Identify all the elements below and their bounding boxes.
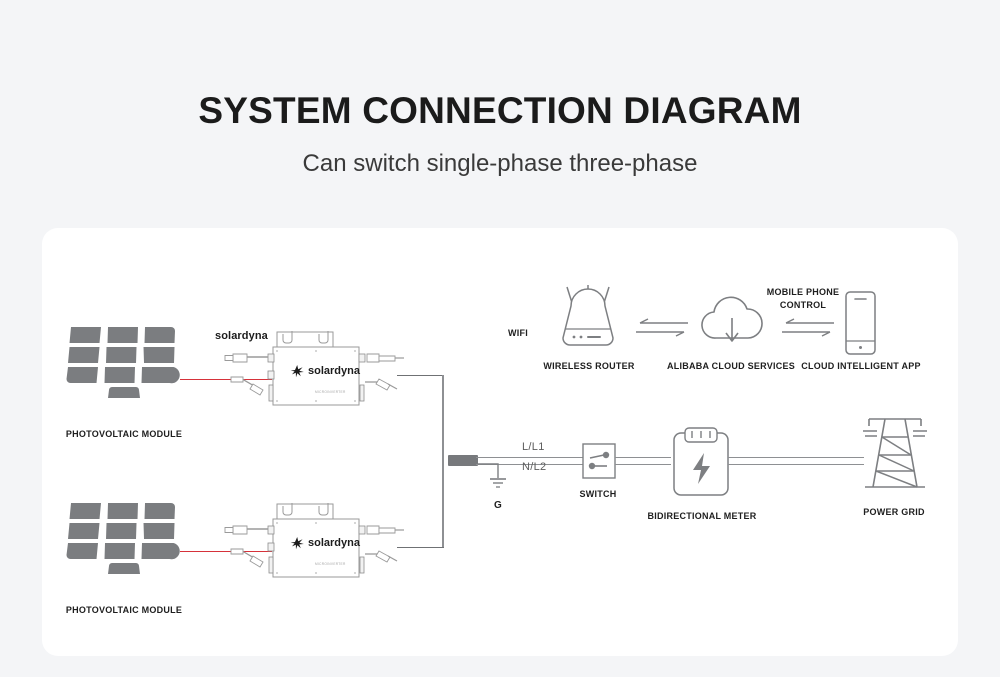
- pv-panel-top-icon: [68, 325, 180, 405]
- arrows-router-cloud: [634, 318, 690, 342]
- arrows-cloud-phone: [780, 318, 836, 342]
- smartphone-icon: [838, 291, 882, 357]
- wireless-router-icon: [547, 284, 629, 352]
- diagram-page: SYSTEM CONNECTION DIAGRAM Can switch sin…: [0, 0, 1000, 677]
- wireless-router-label: WIRELESS ROUTER: [543, 361, 634, 371]
- alibaba-cloud-node: [698, 288, 768, 350]
- meter-node: [668, 425, 734, 499]
- ac-wire-top-out: [397, 375, 444, 376]
- power-grid-label: POWER GRID: [863, 507, 925, 517]
- cloud-app-node: [838, 291, 882, 357]
- ground-symbol: [476, 460, 526, 494]
- pv-module-bottom-label: PHOTOVOLTAIC MODULE: [66, 605, 182, 615]
- mobile-phone-control-text: MOBILE PHONECONTROL: [767, 287, 840, 310]
- switch-icon: [582, 443, 616, 479]
- inverter-bottom-subtext: MICROINVERTER: [315, 562, 346, 566]
- bidirectional-arrow-icon: [634, 318, 690, 342]
- bidirectional-arrow-icon-2: [780, 318, 836, 342]
- cloud-icon: [698, 288, 768, 350]
- ac-wire-bottom-out: [397, 547, 444, 548]
- ground-icon: [476, 460, 526, 494]
- ac-bus-riser: [442, 375, 444, 548]
- inverter-top-subtext: MICROINVERTER: [315, 390, 346, 394]
- ac-wire-switch-to-meter-l: [615, 457, 671, 458]
- alibaba-cloud-label: ALIBABA CLOUD SERVICES: [667, 361, 795, 371]
- inverter-top-brand-text: solardyna: [308, 365, 360, 377]
- inverter-top-brand: solardyna: [215, 330, 268, 342]
- power-grid-node: [855, 413, 935, 497]
- ac-junction-block: [448, 455, 478, 466]
- mobile-phone-control-label: MOBILE PHONECONTROL: [767, 286, 840, 312]
- ac-wire-switch-to-meter-n: [615, 464, 671, 465]
- meter-label: BIDIRECTIONAL METER: [647, 511, 756, 521]
- switch-node: [582, 443, 616, 479]
- ac-wire-meter-to-grid-l: [728, 457, 864, 458]
- cloud-app-label: CLOUD INTELLIGENT APP: [801, 361, 920, 371]
- pv-module-top: [68, 325, 180, 405]
- ground-label: G: [494, 500, 502, 511]
- pv-module-bottom: [68, 501, 180, 581]
- switch-label: SWITCH: [580, 489, 617, 499]
- pv-module-top-label: PHOTOVOLTAIC MODULE: [66, 429, 182, 439]
- transmission-tower-icon: [855, 413, 935, 497]
- pv-panel-bottom-icon: [68, 501, 180, 581]
- meter-icon: [668, 425, 734, 499]
- wifi-label: WIFI: [508, 328, 528, 338]
- ac-line-l-label: L/L1: [522, 441, 545, 453]
- page-title: SYSTEM CONNECTION DIAGRAM: [0, 90, 1000, 132]
- ac-wire-meter-to-grid-n: [728, 464, 864, 465]
- page-subtitle: Can switch single-phase three-phase: [0, 150, 1000, 178]
- ac-line-l: [476, 457, 586, 458]
- wireless-router-node: [547, 284, 629, 352]
- inverter-bottom-brand-text: solardyna: [308, 537, 360, 549]
